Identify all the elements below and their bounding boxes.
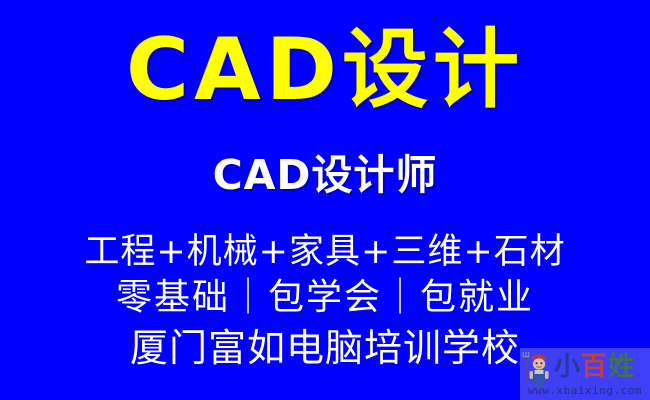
watermark-url: www.xbaixing.com [520,384,650,398]
watermark-logo-char-1: 小 [554,352,581,382]
cartoon-mascot-icon [522,349,552,389]
poster-body-line-guarantees: 零基础｜包学会｜包就业 [0,277,650,319]
watermark-logo-char-3: 姓 [608,352,635,382]
poster-subtitle: CAD设计师 [0,150,650,200]
page-title: CAD设计 [0,22,650,118]
watermark-logo-char-2: 百 [581,352,608,382]
watermark-logo-text: 小百姓 [554,350,648,384]
cad-course-poster: CAD设计 CAD设计师 工程+机械+家具+三维+石材 零基础｜包学会｜包就业 … [0,0,650,400]
watermark: 小百姓 www.xbaixing.com [520,348,650,400]
poster-body-line-subjects: 工程+机械+家具+三维+石材 [0,231,650,273]
